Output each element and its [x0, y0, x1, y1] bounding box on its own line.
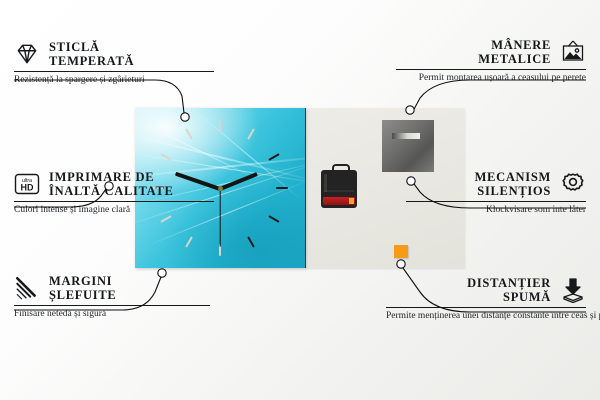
callout-subtitle: Culori intense și imagine clară [14, 205, 214, 217]
callout-title: MARGINI ȘLEFUITE [49, 274, 116, 302]
diamond-icon [14, 41, 40, 67]
callout-subtitle: Permit montarea ușoară a ceasului pe per… [396, 73, 586, 85]
callout-title: IMPRIMARE DE ÎNALTĂ CALITATE [49, 170, 174, 198]
mechanism-texture [324, 174, 354, 192]
callout-sticla-temperata: STICLĂ TEMPERATĂ Rezistență la spargere … [14, 40, 214, 87]
second-hand [219, 189, 220, 247]
svg-text:HD: HD [21, 183, 34, 193]
infographic-canvas: STICLĂ TEMPERATĂ Rezistență la spargere … [0, 0, 600, 400]
callout-mecanism-silentios: MECANISM SILENȚIOS Klockvisare som inte … [406, 170, 586, 217]
callout-subtitle: Rezistență la spargere și zgârieturi [14, 75, 214, 87]
callout-title: DISTANȚIER SPUMĂ [467, 276, 551, 304]
callout-rule [396, 69, 586, 70]
callout-title: STICLĂ TEMPERATĂ [49, 40, 134, 68]
callout-rule [14, 305, 210, 306]
callout-rule [14, 201, 214, 202]
metal-hanger-bracket [382, 120, 434, 172]
foam-spacer [394, 245, 408, 258]
callout-imprimare-calitate: ultra HD IMPRIMARE DE ÎNALTĂ CALITATE Cu… [14, 170, 214, 217]
callout-title: MECANISM SILENȚIOS [475, 170, 551, 198]
callout-subtitle: Klockvisare som inte låter [406, 205, 586, 217]
down-arrow-pad-icon [560, 277, 586, 303]
ultra-hd-icon: ultra HD [14, 171, 40, 197]
picture-frame-hanger-icon [560, 39, 586, 65]
gear-icon [560, 171, 586, 197]
callout-distantier-spuma: DISTANȚIER SPUMĂ Permite menținerea unei… [386, 276, 586, 323]
callout-rule [406, 201, 586, 202]
hands-pivot [218, 186, 223, 191]
battery [323, 197, 355, 205]
callout-rule [386, 307, 586, 308]
callout-subtitle: Finisare netedă și sigură [14, 309, 210, 321]
callout-subtitle: Permite menținerea unei distanțe constan… [386, 311, 586, 323]
beveled-edge-icon [14, 275, 40, 301]
hanger-slot [392, 133, 420, 139]
clock-mechanism [321, 170, 357, 208]
callout-margini-slefuite: MARGINI ȘLEFUITE Finisare netedă și sigu… [14, 274, 210, 321]
callout-title: MÂNERE METALICE [478, 38, 551, 66]
callout-rule [14, 71, 214, 72]
callout-manere-metalice: MÂNERE METALICE Permit montarea ușoară a… [396, 38, 586, 85]
